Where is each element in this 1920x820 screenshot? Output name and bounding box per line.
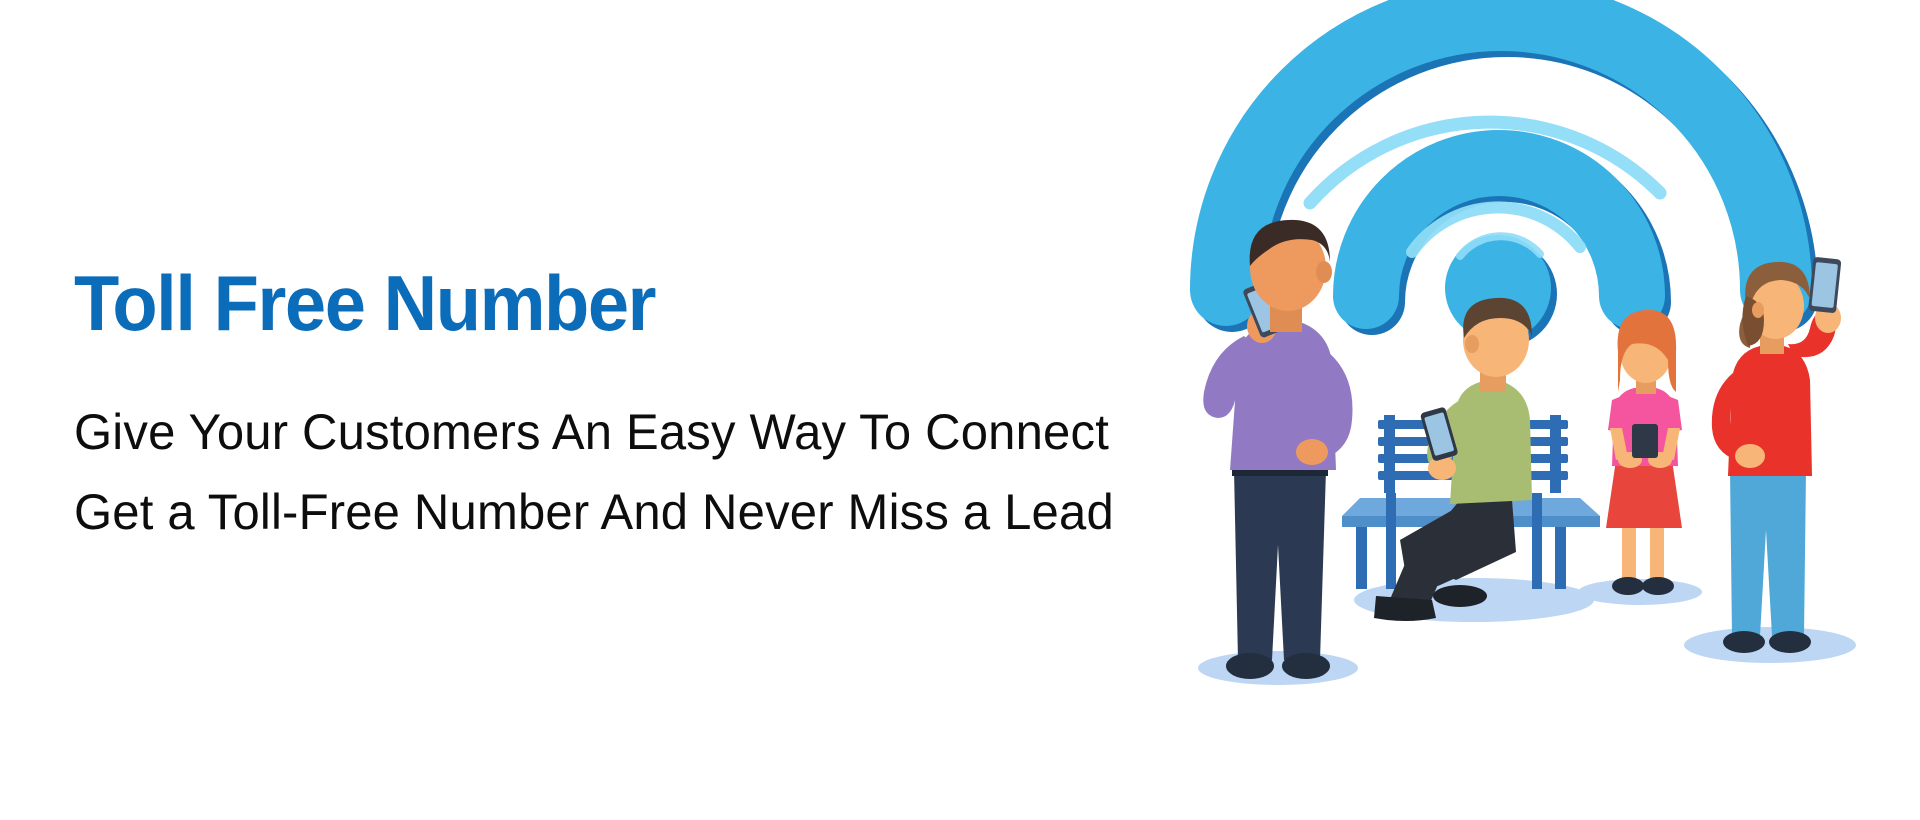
page-title: Toll Free Number bbox=[74, 262, 1233, 344]
pants bbox=[1234, 470, 1326, 660]
leg bbox=[1650, 520, 1664, 582]
hero-text-block: Toll Free Number Give Your Customers An … bbox=[74, 262, 1294, 552]
shoe bbox=[1769, 631, 1811, 653]
shoe bbox=[1433, 585, 1487, 607]
subheadline-line-1: Give Your Customers An Easy Way To Conne… bbox=[74, 392, 1270, 472]
shoe bbox=[1282, 653, 1330, 679]
bench-leg bbox=[1356, 527, 1367, 589]
shoe bbox=[1374, 596, 1436, 621]
leg bbox=[1622, 520, 1636, 582]
sleeve bbox=[1608, 396, 1622, 432]
bench-leg bbox=[1532, 493, 1542, 589]
mobile-phone bbox=[1808, 257, 1841, 314]
shoe bbox=[1226, 653, 1274, 679]
hand bbox=[1735, 444, 1765, 468]
bench-upright bbox=[1550, 415, 1561, 493]
ear bbox=[1465, 335, 1479, 353]
mobile-phone bbox=[1632, 424, 1658, 458]
wifi-people-illustration bbox=[1160, 0, 1920, 820]
ear bbox=[1316, 261, 1332, 283]
person-woman-front bbox=[1606, 310, 1682, 595]
sleeve bbox=[1668, 396, 1682, 432]
subheadline-line-2: Get a Toll-Free Number And Never Miss a … bbox=[74, 472, 1270, 552]
hand bbox=[1296, 439, 1328, 465]
jeans bbox=[1730, 470, 1806, 636]
bench-upright bbox=[1384, 415, 1395, 493]
person-woman-phone-raised bbox=[1712, 257, 1842, 653]
toll-free-number-banner: Toll Free Number Give Your Customers An … bbox=[0, 0, 1920, 820]
bench-leg bbox=[1386, 493, 1396, 589]
hand bbox=[1428, 456, 1456, 480]
shirt bbox=[1450, 382, 1532, 504]
shoe bbox=[1642, 577, 1674, 595]
shoe bbox=[1723, 631, 1765, 653]
ground-shadow-man-left bbox=[1198, 651, 1358, 685]
bench-leg bbox=[1555, 527, 1566, 589]
ear bbox=[1752, 302, 1764, 318]
skirt bbox=[1606, 460, 1682, 528]
shoe bbox=[1612, 577, 1644, 595]
